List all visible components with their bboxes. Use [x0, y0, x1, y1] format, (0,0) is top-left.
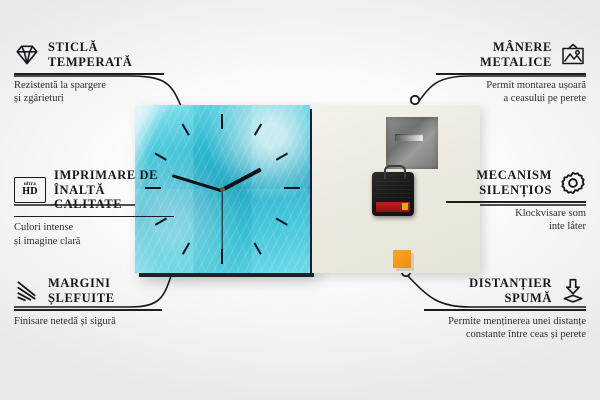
- feature-tempered-glass: STICLĂ TEMPERATĂ Rezistentă la spargere …: [14, 40, 164, 106]
- feature-title-row: STICLĂ TEMPERATĂ: [14, 40, 164, 69]
- feature-title: DISTANȚIER SPUMĂ: [469, 276, 552, 305]
- foam-spacer: [393, 250, 411, 268]
- battery: [376, 202, 410, 212]
- feature-subtitle: Culori intense și imagine clară: [14, 221, 174, 248]
- mechanism-face: [376, 178, 410, 198]
- feature-title-row: MECANISM SILENȚIOS: [446, 168, 586, 197]
- feature-title: IMPRIMARE DE ÎNALTĂ CALITATE: [54, 168, 174, 212]
- infographic-canvas: STICLĂ TEMPERATĂ Rezistentă la spargere …: [0, 0, 600, 400]
- clock-second-hand: [221, 190, 222, 252]
- feature-subtitle: Permite menținerea unei distanțe constan…: [424, 315, 586, 342]
- picture-frame-hook-icon: [560, 42, 586, 68]
- feature-title-row: MÂNERE METALICE: [436, 40, 586, 69]
- feature-title: MARGINI ȘLEFUITE: [48, 276, 115, 305]
- leader-dot-hooks: [411, 96, 419, 104]
- polished-edge-icon: [14, 278, 40, 304]
- feature-polished-edges: MARGINI ȘLEFUITE Finisare netedă și sigu…: [14, 276, 162, 328]
- divider: [14, 216, 174, 218]
- silent-quartz-mechanism: [372, 172, 414, 216]
- feature-title: MÂNERE METALICE: [480, 40, 552, 69]
- feature-subtitle: Permit montarea ușoară a ceasului pe per…: [436, 79, 586, 106]
- feature-silent-mechanism: MECANISM SILENȚIOS Klockvisare som inte …: [446, 168, 586, 234]
- divider: [436, 73, 586, 75]
- feature-metal-hooks: MÂNERE METALICE Permit montarea ușoară a…: [436, 40, 586, 106]
- ultra-hd-icon: ultra HD: [14, 177, 46, 203]
- feature-title-row: MARGINI ȘLEFUITE: [14, 276, 162, 305]
- divider: [424, 309, 586, 311]
- hanger-slot: [395, 134, 423, 141]
- divider: [14, 309, 162, 311]
- hanger-loop: [384, 165, 406, 179]
- divider: [14, 73, 164, 75]
- gear-icon: [560, 170, 586, 196]
- feature-title: MECANISM SILENȚIOS: [476, 168, 552, 197]
- feature-title-row: DISTANȚIER SPUMĂ: [424, 276, 586, 305]
- clock-tick: [284, 187, 300, 189]
- feature-title-row: ultra HD IMPRIMARE DE ÎNALTĂ CALITATE: [14, 168, 174, 212]
- divider: [446, 201, 586, 203]
- metal-hanger-plate: [386, 117, 438, 169]
- feature-subtitle: Klockvisare som inte låter: [446, 207, 586, 234]
- diamond-icon: [14, 42, 40, 68]
- feature-subtitle: Finisare netedă și sigură: [14, 315, 162, 329]
- clock-tick: [221, 114, 223, 129]
- arrow-down-stack-icon: [560, 278, 586, 304]
- feature-foam-spacer: DISTANȚIER SPUMĂ Permite menținerea unei…: [424, 276, 586, 342]
- feature-hd-print: ultra HD IMPRIMARE DE ÎNALTĂ CALITATE Cu…: [14, 168, 174, 248]
- feature-title: STICLĂ TEMPERATĂ: [48, 40, 132, 69]
- clock-center-hub: [220, 187, 225, 192]
- feature-subtitle: Rezistentă la spargere și zgârieturi: [14, 79, 164, 106]
